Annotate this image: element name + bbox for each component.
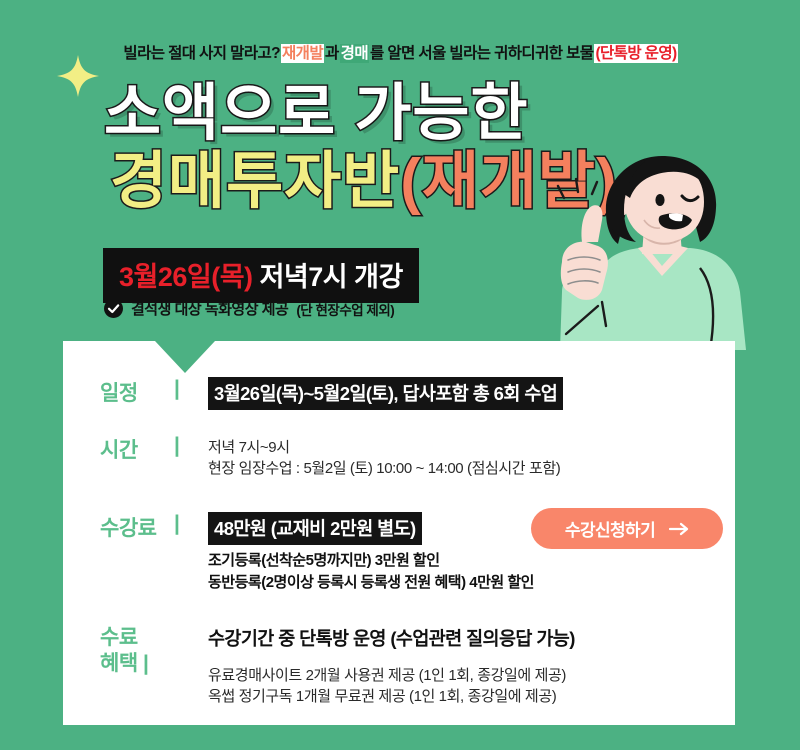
recording-note: 결석생 대상 녹화영상 제공 (단 현장수업 제외) — [104, 298, 394, 319]
row-benefits-label-group: 수료 혜택 | — [100, 625, 208, 679]
details-card: 일정 | 3월26일(목)~5월2일(토), 답사포함 총 6회 수업 시간 |… — [63, 341, 735, 725]
row-time-body: 저녁 7시~9시 현장 임장수업 : 5월2일 (토) 10:00 ~ 14:0… — [208, 434, 700, 480]
row-benefits-line-1: 유료경매사이트 2개월 사용권 제공 (1인 1회, 종강일에 제공) — [208, 665, 700, 686]
row-benefits-label-line1: 수료 — [100, 625, 138, 652]
promo-poster: 빌라는 절대 사지 말라고?재개발과경매를 알면 서울 빌라는 귀하디귀한 보물… — [0, 0, 800, 750]
row-schedule-label: 일정 — [100, 377, 174, 407]
woman-thumbs-up-illustration — [540, 150, 800, 350]
date-banner: 3월26일(목) 저녁7시 개강 — [103, 248, 419, 303]
tagline: 빌라는 절대 사지 말라고?재개발과경매를 알면 서울 빌라는 귀하디귀한 보물… — [0, 41, 800, 63]
row-benefits-label-line2-text: 혜택 — [100, 652, 138, 675]
recording-note-sub: (단 현장수업 제외) — [296, 299, 394, 319]
apply-button-label: 수강신청하기 — [565, 516, 655, 541]
row-tuition-line-1: 조기등록(선착순5명까지만) 3만원 할인 — [208, 550, 700, 573]
row-time-line-1: 저녁 7시~9시 — [208, 437, 700, 458]
tagline-highlight-chatroom: (단톡방 운영) — [594, 44, 677, 63]
check-circle-icon — [104, 299, 123, 318]
row-schedule-body: 3월26일(목)~5월2일(토), 답사포함 총 6회 수업 — [208, 377, 700, 410]
row-tuition-highlight: 48만원 (교재비 2만원 별도) — [208, 512, 422, 545]
row-benefits-body: 수강기간 중 단톡방 운영 (수업관련 질의응답 가능) 유료경매사이트 2개월… — [208, 625, 700, 708]
row-time-line-2: 현장 임장수업 : 5월2일 (토) 10:00 ~ 14:00 (점심시간 포… — [208, 458, 700, 479]
row-benefits-line-2: 옥썹 정기구독 1개월 무료권 제공 (1인 1회, 종강일에 제공) — [208, 686, 700, 707]
row-time-label-group: 시간 | — [100, 434, 208, 464]
tagline-highlight-redevelopment: 재개발 — [281, 44, 324, 63]
row-time-label: 시간 — [100, 434, 174, 464]
row-schedule: 일정 | 3월26일(목)~5월2일(토), 답사포함 총 6회 수업 — [100, 377, 700, 410]
row-time: 시간 | 저녁 7시~9시 현장 임장수업 : 5월2일 (토) 10:00 ~… — [100, 434, 700, 480]
card-pointer-triangle — [155, 341, 215, 373]
date-banner-date: 3월26일(목) — [119, 262, 253, 292]
row-tuition-divider: | — [174, 512, 179, 536]
row-tuition-label-group: 수강료 | — [100, 512, 208, 542]
headline-line2-yellow: 경매투자반 — [110, 147, 400, 216]
row-schedule-divider: | — [174, 377, 179, 401]
date-banner-time: 저녁7시 개강 — [260, 262, 403, 292]
row-benefits-divider: | — [143, 652, 148, 675]
recording-note-main: 결석생 대상 녹화영상 제공 — [131, 298, 288, 319]
headline-line1: 소액으로 가능한 — [104, 84, 618, 144]
row-schedule-label-group: 일정 | — [100, 377, 208, 407]
tagline-part2: 과 — [324, 44, 340, 63]
row-tuition-label: 수강료 — [100, 512, 174, 542]
row-tuition-line-2: 동반등록(2명이상 등록시 등록생 전원 혜택) 4만원 할인 — [208, 572, 700, 595]
apply-button[interactable]: 수강신청하기 — [531, 508, 723, 549]
row-schedule-highlight: 3월26일(목)~5월2일(토), 답사포함 총 6회 수업 — [208, 377, 563, 410]
row-time-divider: | — [174, 434, 179, 458]
tagline-part3: 를 알면 서울 빌라는 귀하디귀한 보물 — [369, 44, 594, 63]
row-benefits-label-line2: 혜택 | — [100, 651, 148, 678]
row-benefits: 수료 혜택 | 수강기간 중 단톡방 운영 (수업관련 질의응답 가능) 유료경… — [100, 625, 700, 708]
arrow-right-icon — [669, 522, 689, 536]
tagline-part1: 빌라는 절대 사지 말라고? — [122, 44, 281, 63]
tagline-highlight-auction: 경매 — [340, 44, 369, 63]
row-benefits-heading: 수강기간 중 단톡방 운영 (수업관련 질의응답 가능) — [208, 625, 700, 651]
